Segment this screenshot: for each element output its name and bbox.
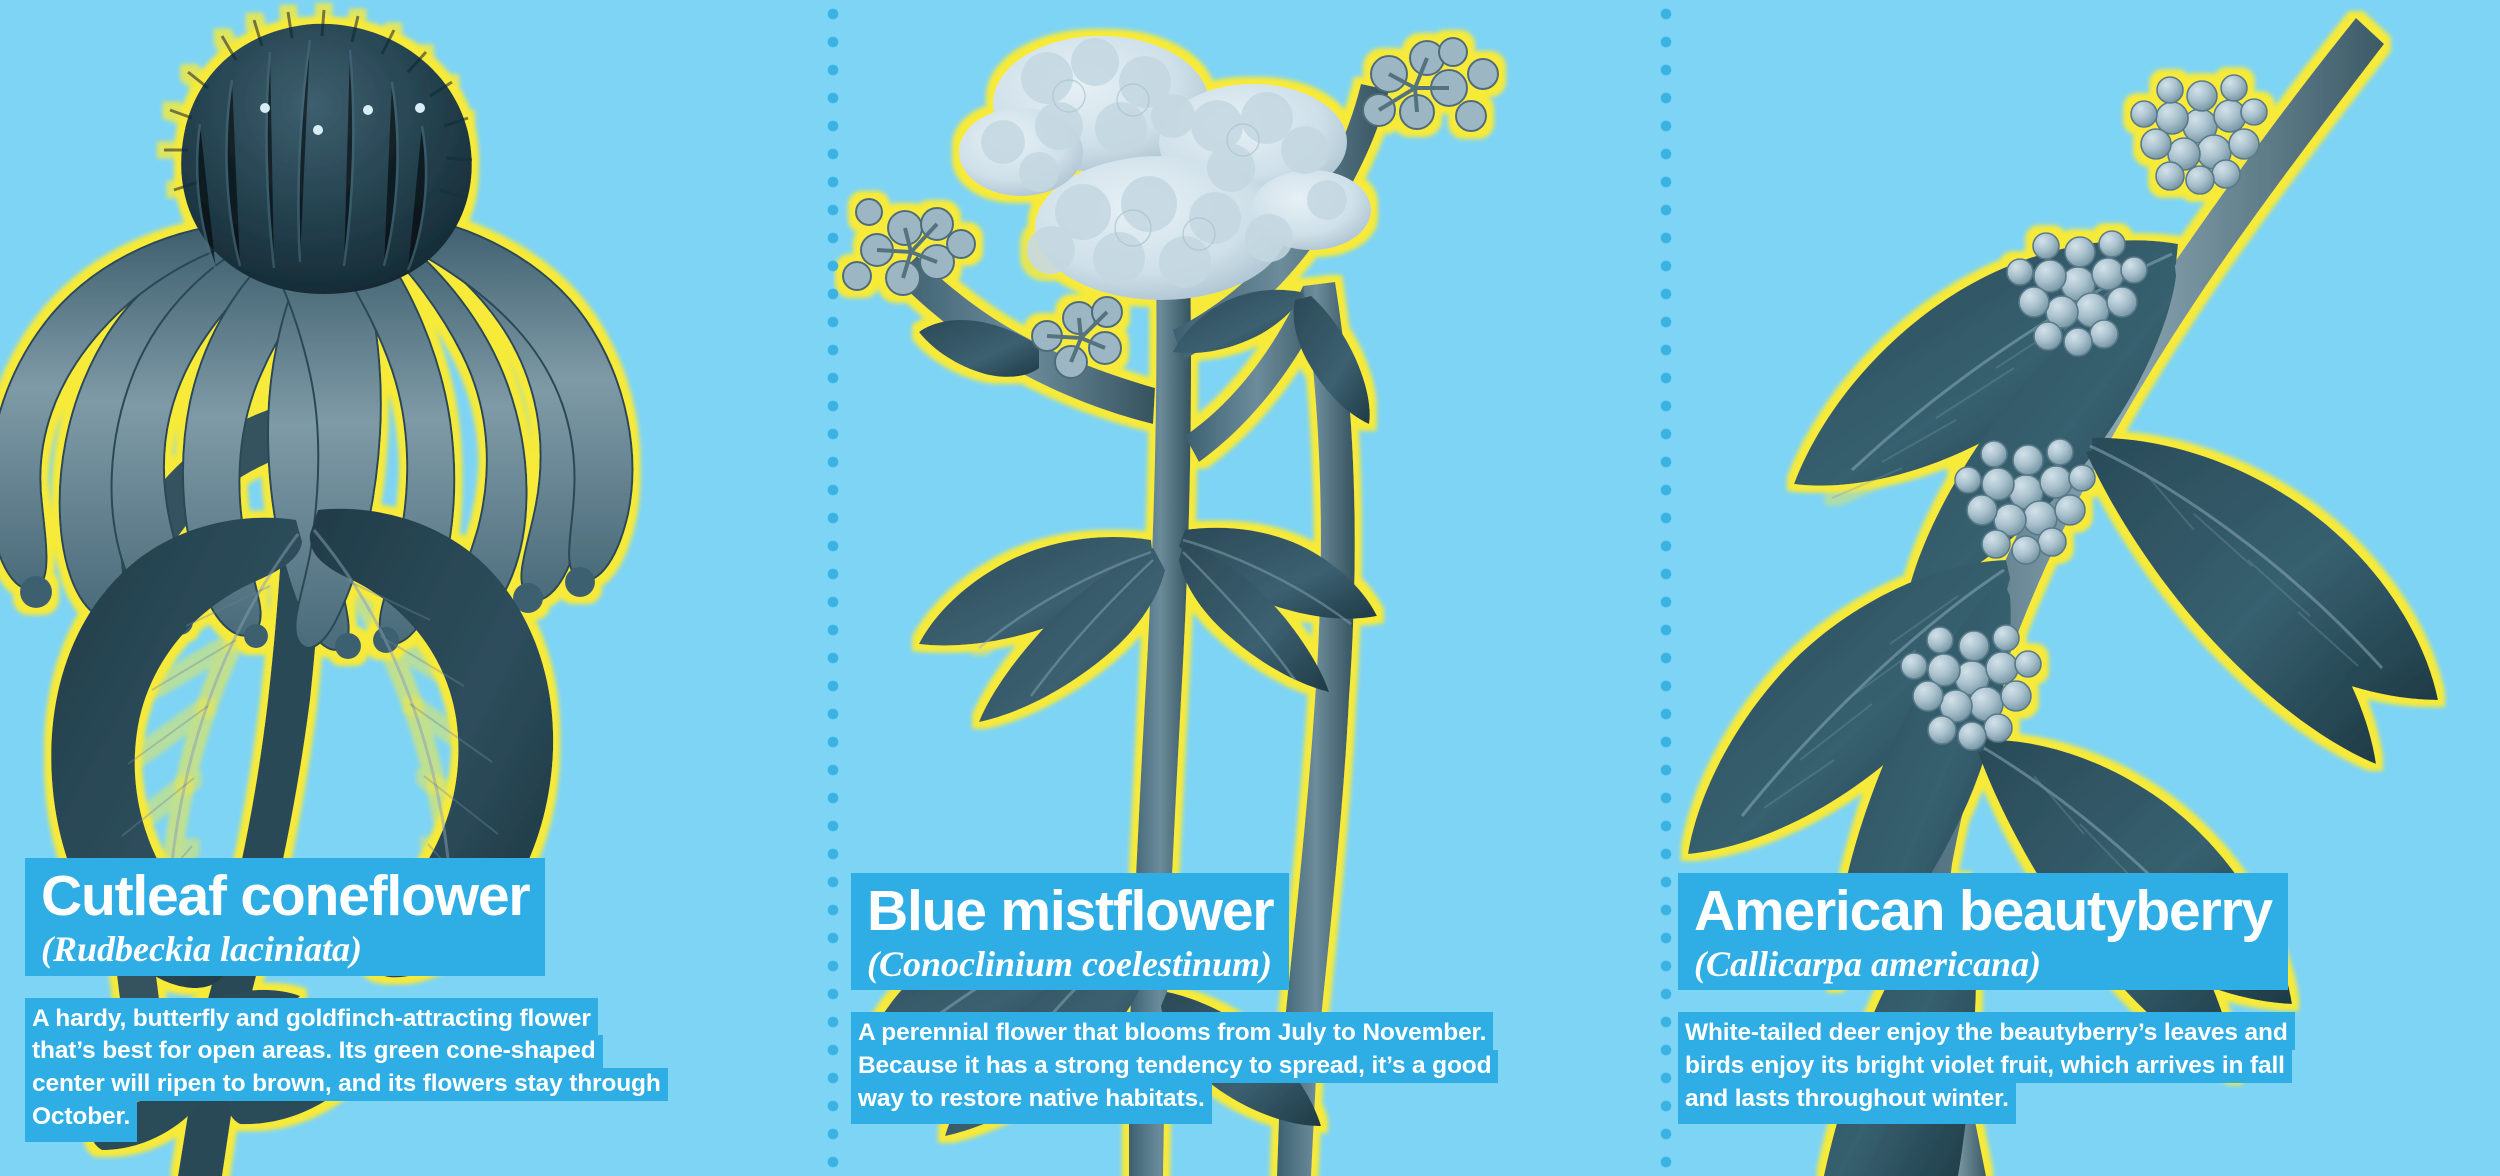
description-line: birds enjoy its bright violet fruit, whi… [1678,1050,2292,1083]
plant-common-name: Blue mistflower [867,883,1273,940]
description-line: and lasts throughout winter. [1678,1083,2016,1124]
description-line: way to restore native habitats. [851,1083,1212,1124]
plant-latin-name: (Conoclinium coelestinum) [867,944,1273,984]
plant-description: A hardy, butterfly and goldfinch-attract… [25,998,815,1143]
plant-panel-cutleaf-coneflower: Cutleaf coneflower (Rudbeckia laciniata)… [0,0,833,1176]
description-line: that’s best for open areas. Its green co… [25,1035,603,1068]
dotted-divider-left [827,0,839,1176]
description-line: White-tailed deer enjoy the beautyberry’… [1678,1012,2295,1050]
plant-description: A perennial flower that blooms from July… [851,1012,1641,1124]
plant-panel-blue-mistflower: Blue mistflower (Conoclinium coelestinum… [833,0,1666,1176]
title-group: Blue mistflower (Conoclinium coelestinum… [851,873,1641,990]
plant-latin-name: (Rudbeckia laciniata) [41,929,529,969]
plant-common-name: Cutleaf coneflower [41,868,529,925]
flower-clusters [959,36,1371,300]
dotted-divider-right [1660,0,1672,1176]
plant-latin-name: (Callicarpa americana) [1694,944,2272,984]
description-line: Because it has a strong tendency to spre… [851,1050,1498,1083]
plant-common-name: American beautyberry [1694,883,2272,940]
description-line: A perennial flower that blooms from July… [851,1012,1493,1050]
infographic-canvas: Cutleaf coneflower (Rudbeckia laciniata)… [0,0,2500,1176]
plant-description: White-tailed deer enjoy the beautyberry’… [1678,1012,2490,1124]
title-group: Cutleaf coneflower (Rudbeckia laciniata) [25,858,815,975]
title-group: American beautyberry (Callicarpa america… [1678,873,2490,990]
description-line: A hardy, butterfly and goldfinch-attract… [25,998,598,1036]
description-line: center will ripen to brown, and its flow… [25,1068,668,1101]
description-line: October. [25,1101,137,1142]
plant-panel-american-beautyberry: American beautyberry (Callicarpa america… [1666,0,2500,1176]
